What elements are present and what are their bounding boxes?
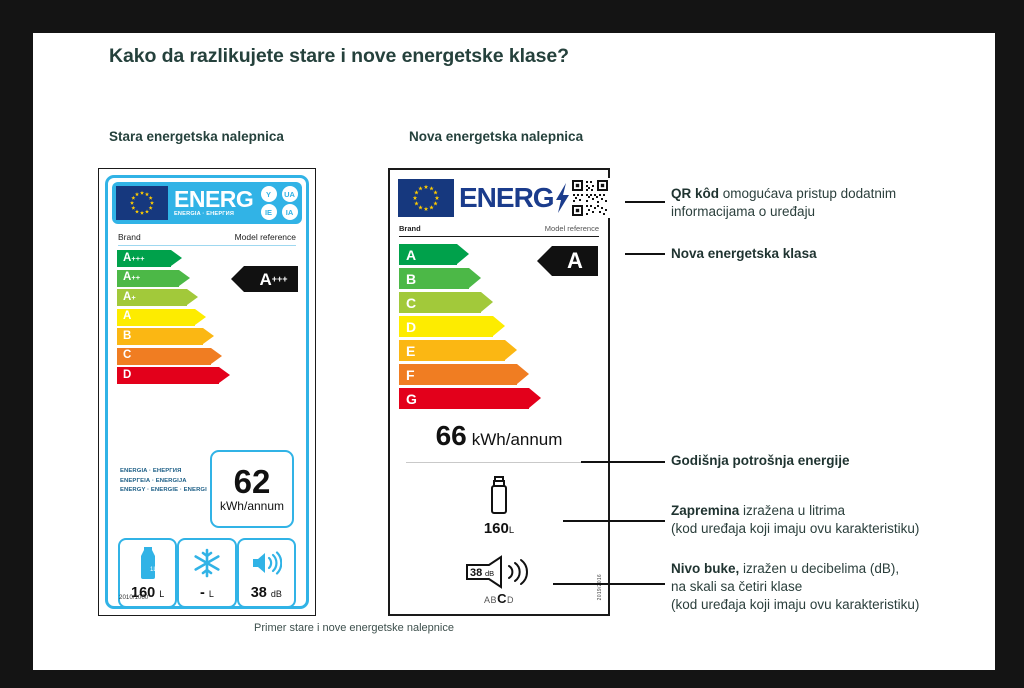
old-consumption-value: 62 (234, 465, 271, 498)
new-noise-unit: dB (485, 569, 494, 578)
annotation-qr-rest: omogućava pristup dodatnim (719, 186, 896, 201)
figure-caption: Primer stare i nove energetske nalepnice (254, 622, 454, 634)
old-class-bar: A+++ (117, 250, 171, 267)
new-class-bar: A (399, 244, 457, 265)
old-energy-word-line: ΕΝΕΡΓΕΙΑ · ENERGIJA (120, 477, 207, 487)
old-brand-row: Brand Model reference (118, 232, 296, 246)
new-class-letter: C (406, 295, 416, 311)
old-class-bar: A (117, 309, 195, 326)
energ-word: ENERG (174, 189, 256, 211)
new-rating-arrow: A (552, 246, 598, 276)
annotation-noise-bold: Nivo buke, (671, 561, 739, 576)
old-class-bar: A++ (117, 270, 179, 287)
old-rating-arrow: A+++ (244, 266, 298, 292)
annotation-qr-bold: QR kôd (671, 186, 719, 201)
annotation-noise-rest: izražen u decibelima (dB), (739, 561, 899, 576)
annotation-class-bold: Nova energetska klasa (671, 246, 817, 261)
eu-flag-icon (116, 186, 168, 220)
old-class-plus: + (131, 294, 135, 302)
old-class-plus: +++ (131, 255, 144, 263)
new-energy-label: ENERG (388, 168, 610, 616)
annotation-qr-line2: informacijama o uređaju (671, 204, 815, 219)
old-brand-label: Brand (118, 232, 141, 242)
old-regulation-number: 2010/1060 (119, 594, 148, 601)
old-label-inner-border: ENERG ENERGIA · ЕНЕРГИЯ Y UA IE IA Brand… (105, 175, 309, 609)
old-class-letter: A (123, 253, 131, 265)
new-model-reference: Model reference (545, 224, 599, 233)
new-regulation-number: 2019/2016 (597, 574, 603, 600)
new-rating-letter: A (567, 250, 583, 272)
annotation-noise-line3: (kod uređaja koji imaju ovu karakteristi… (671, 597, 919, 612)
leader-line-class (625, 253, 665, 255)
annotation-volume-line2: (kod uređaja koji imaju ovu karakteristi… (671, 521, 919, 536)
annotation-new-class: Nova energetska klasa (671, 245, 1001, 263)
old-class-letter: A (123, 292, 131, 304)
snowflake-icon (192, 540, 222, 585)
eu-flag-icon (398, 179, 454, 217)
old-class-letter: C (123, 350, 131, 362)
leader-line-qr (625, 201, 665, 203)
old-energy-word-line: ENERGY · ENERGIE · ENERGI (120, 486, 207, 496)
old-consumption-unit: kWh/annum (220, 499, 284, 513)
new-label-header: ENERG (398, 178, 600, 218)
carton-icon (486, 475, 512, 517)
energ-wordmark: ENERG (454, 183, 570, 213)
content-card: Kako da razlikujete stare i nove energet… (33, 33, 995, 670)
badge-ua: UA (282, 186, 298, 202)
new-noise-class-scale: ABCD (484, 591, 514, 606)
new-volume-value: 160L (484, 520, 514, 537)
new-consumption-value: 66 (436, 420, 467, 452)
noise-class-d: D (507, 595, 514, 605)
annotation-volume: Zapremina izražena u litrima (kod uređaj… (671, 502, 1011, 538)
new-energy-class-scale: ABCDEFG (399, 244, 539, 412)
svg-text:1L: 1L (150, 567, 157, 573)
old-rating-plus: +++ (272, 274, 288, 284)
leader-line-volume (563, 520, 665, 522)
speaker-icon (250, 540, 282, 585)
new-consumption-divider (406, 462, 592, 463)
old-freezer-cell: - L (177, 538, 236, 608)
new-label-heading: Nova energetska nalepnica (409, 129, 583, 144)
new-class-bar: F (399, 364, 517, 385)
new-class-letter: F (406, 367, 415, 383)
new-class-letter: E (406, 343, 415, 359)
old-class-bar: D (117, 367, 219, 384)
badge-ie: IE (261, 204, 277, 220)
new-header-divider (399, 236, 599, 237)
language-badges: Y UA IE IA (256, 182, 302, 224)
old-energy-word-line: ENERGIA · ЕНЕРГИЯ (120, 467, 207, 477)
leader-line-noise (553, 583, 665, 585)
qr-code-icon (570, 178, 610, 218)
annotation-consumption-bold: Godišnja potrošnja energije (671, 453, 850, 468)
new-volume-block: 160L (390, 475, 608, 537)
new-class-letter: B (406, 271, 416, 287)
new-class-bar: B (399, 268, 469, 289)
old-class-bar: A+ (117, 289, 187, 306)
old-consumption-box: 62 kWh/annum (210, 450, 294, 528)
new-brand-label: Brand (399, 224, 421, 233)
new-class-bar: D (399, 316, 493, 337)
old-freezer-value: - L (200, 585, 214, 601)
new-class-letter: A (406, 247, 416, 263)
energ-subtitle: ENERGIA · ЕНЕРГИЯ (174, 211, 256, 217)
new-noise-value: 38 (470, 567, 482, 579)
badge-ia: IA (282, 204, 298, 220)
annotation-qr-code: QR kôd omogućava pristup dodatnim inform… (671, 185, 1001, 221)
noise-class-c: C (497, 591, 507, 606)
screenshot-root: Kako da razlikujete stare i nove energet… (0, 0, 1024, 688)
old-model-reference: Model reference (235, 232, 296, 242)
new-consumption-unit: kWh/annum (472, 430, 563, 450)
new-class-bar: G (399, 388, 529, 409)
annotation-consumption: Godišnja potrošnja energije (671, 452, 1001, 470)
speaker-icon: 38 dB (461, 555, 537, 589)
old-class-letter: A (123, 272, 131, 284)
new-brand-row: Brand Model reference (399, 224, 599, 233)
new-consumption-row: 66 kWh/annum (399, 420, 599, 452)
new-noise-block: 38 dB ABCD (390, 555, 608, 606)
lightning-bolt-icon (555, 183, 570, 213)
annotation-noise: Nivo buke, izražen u decibelima (dB), na… (671, 560, 1016, 615)
new-class-letter: G (406, 391, 417, 407)
energ-wordmark: ENERG ENERGIA · ЕНЕРГИЯ (168, 182, 256, 224)
old-label-heading: Stara energetska nalepnica (109, 129, 284, 144)
leader-line-consumption (581, 461, 665, 463)
energ-word: ENERG (459, 184, 554, 212)
old-class-plus: ++ (131, 274, 140, 282)
old-label-header: ENERG ENERGIA · ЕНЕРГИЯ Y UA IE IA (112, 182, 302, 224)
badge-y: Y (261, 186, 277, 202)
annotation-volume-bold: Zapremina (671, 503, 739, 518)
old-class-letter: A (123, 311, 131, 323)
annotation-volume-rest: izražena u litrima (739, 503, 845, 518)
page-title: Kako da razlikujete stare i nove energet… (109, 45, 569, 68)
old-class-bar: B (117, 328, 203, 345)
new-class-bar: E (399, 340, 505, 361)
old-noise-cell: 38 dB (237, 538, 296, 608)
old-rating-letter: A (259, 271, 271, 288)
old-energy-label: ENERG ENERGIA · ЕНЕРГИЯ Y UA IE IA Brand… (98, 168, 316, 616)
carton-icon: 1L (137, 540, 159, 585)
old-class-letter: B (123, 331, 131, 343)
old-class-letter: D (123, 370, 131, 382)
new-class-bar: C (399, 292, 481, 313)
old-noise-value: 38 dB (251, 585, 282, 601)
annotation-noise-line2: na skali sa četiri klase (671, 579, 802, 594)
old-class-bar: C (117, 348, 211, 365)
new-class-letter: D (406, 319, 416, 335)
old-energy-words: ENERGIA · ЕНЕРГИЯΕΝΕΡΓΕΙΑ · ENERGIJAENER… (120, 467, 207, 496)
